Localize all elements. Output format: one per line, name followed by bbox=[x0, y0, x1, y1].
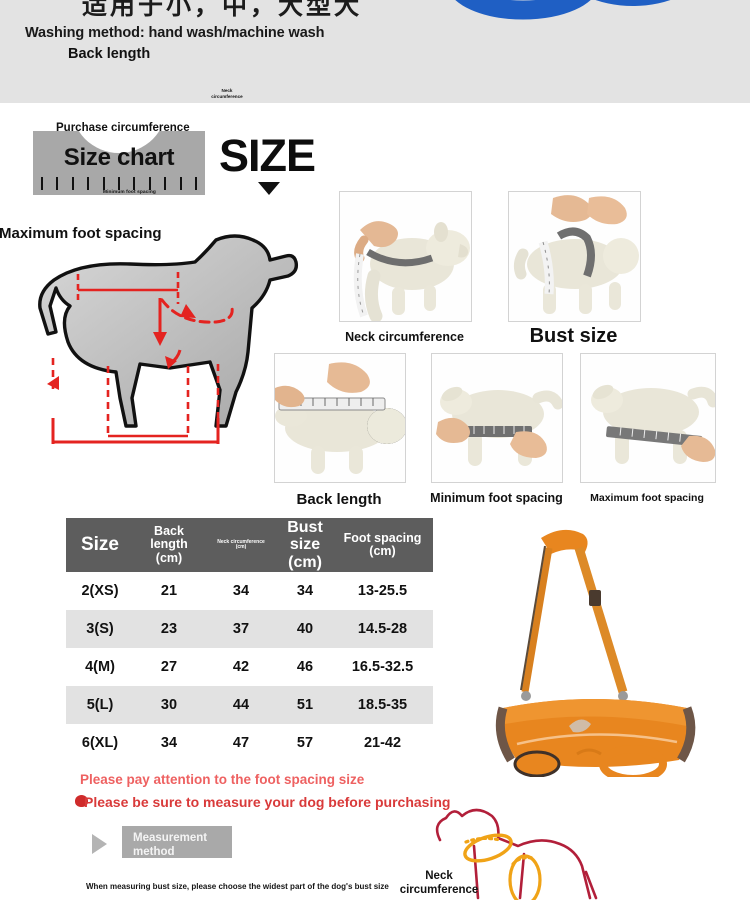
diagram-label-maximum-foot-spacing: Maximum foot spacing bbox=[0, 225, 162, 242]
cell-foot-spacing: 18.5-35 bbox=[332, 686, 433, 724]
cell-size: 2(XS) bbox=[66, 572, 134, 610]
photo-minimum-foot-spacing bbox=[431, 353, 563, 483]
cell-back-length: 21 bbox=[134, 572, 204, 610]
cell-neck-circumference: 37 bbox=[204, 610, 278, 648]
column-header-size: Size bbox=[66, 518, 134, 572]
photo-caption-neck-circumference: Neck circumference bbox=[339, 330, 470, 344]
measurement-method-button[interactable]: Measurement method bbox=[122, 826, 232, 858]
table-header: Size Back length (cm) Neck circumference… bbox=[66, 518, 433, 572]
cell-bust-size: 40 bbox=[278, 610, 332, 648]
cell-size: 3(S) bbox=[66, 610, 134, 648]
table-row: 3(S) 23 37 40 14.5-28 bbox=[66, 610, 433, 648]
photo-caption-back-length: Back length bbox=[274, 491, 404, 508]
cell-neck-circumference: 34 bbox=[204, 572, 278, 610]
cell-size: 5(L) bbox=[66, 686, 134, 724]
cell-foot-spacing: 14.5-28 bbox=[332, 610, 433, 648]
table-row: 4(M) 27 42 46 16.5-32.5 bbox=[66, 648, 433, 686]
column-header-neck-circumference-unit: (cm) bbox=[236, 544, 247, 550]
photo-caption-bust-size: Bust size bbox=[493, 325, 654, 348]
cell-back-length: 23 bbox=[134, 610, 204, 648]
cell-neck-circumference: 47 bbox=[204, 724, 278, 762]
column-header-back-length-label: Back length bbox=[150, 524, 188, 552]
dog-measurement-diagram bbox=[20, 222, 305, 474]
washing-method-text: Washing method: hand wash/machine wash bbox=[25, 25, 324, 41]
column-header-back-length: Back length (cm) bbox=[134, 518, 204, 572]
cell-foot-spacing: 21-42 bbox=[332, 724, 433, 762]
cell-bust-size: 46 bbox=[278, 648, 332, 686]
blue-pet-carrier-photo bbox=[418, 0, 728, 52]
cell-bust-size: 51 bbox=[278, 686, 332, 724]
cell-neck-circumference: 44 bbox=[204, 686, 278, 724]
cell-size: 4(M) bbox=[66, 648, 134, 686]
column-header-bust-size-unit: (cm) bbox=[288, 554, 322, 571]
photo-caption-minimum-foot-spacing: Minimum foot spacing bbox=[421, 491, 572, 505]
warning-measure-dog: Please be sure to measure your dog befor… bbox=[84, 794, 450, 810]
diagram-label-neck-circumference: Neck circumference bbox=[209, 88, 245, 99]
cell-foot-spacing: 16.5-32.5 bbox=[332, 648, 433, 686]
size-chart-label: Size chart bbox=[33, 144, 205, 172]
down-caret-icon bbox=[258, 182, 280, 195]
column-header-neck-circumference: Neck circumference (cm) bbox=[204, 518, 278, 572]
cell-bust-size: 34 bbox=[278, 572, 332, 610]
cell-neck-circumference: 42 bbox=[204, 648, 278, 686]
outline-label-neck-circumference: Neck circumference bbox=[399, 870, 479, 898]
photo-maximum-foot-spacing bbox=[580, 353, 716, 483]
column-header-bust-size-label: Bust size bbox=[287, 519, 323, 553]
diagram-label-minimum-foot-spacing: Minimum foot spacing bbox=[103, 190, 156, 195]
photo-bust-size bbox=[508, 191, 641, 322]
size-chart-table: Size Back length (cm) Neck circumference… bbox=[66, 518, 433, 762]
table-body: 2(XS) 21 34 34 13-25.5 3(S) 23 37 40 14.… bbox=[66, 572, 433, 762]
diagram-label-purchase-circumference: Purchase circumference bbox=[56, 122, 190, 134]
cell-bust-size: 57 bbox=[278, 724, 332, 762]
table-row: 6(XL) 34 47 57 21-42 bbox=[66, 724, 433, 762]
banner-chinese-text: 适用于小，中，大型犬 bbox=[82, 0, 362, 22]
photo-back-length bbox=[274, 353, 406, 483]
orange-pet-sling-carrier bbox=[473, 522, 728, 777]
column-header-foot-spacing: Foot spacing (cm) bbox=[332, 518, 433, 572]
cell-foot-spacing: 13-25.5 bbox=[332, 572, 433, 610]
table-row: 5(L) 30 44 51 18.5-35 bbox=[66, 686, 433, 724]
ruler-ticks-icon bbox=[41, 177, 197, 190]
play-triangle-icon[interactable] bbox=[92, 834, 107, 854]
column-header-bust-size: Bust size (cm) bbox=[278, 518, 332, 572]
column-header-foot-spacing-label: Foot spacing bbox=[344, 531, 422, 545]
size-chart-badge: Size chart bbox=[33, 131, 205, 195]
measurement-method-label: Measurement method bbox=[133, 831, 225, 860]
cell-back-length: 30 bbox=[134, 686, 204, 724]
column-header-back-length-unit: (cm) bbox=[156, 551, 182, 565]
size-heading: SIZE bbox=[219, 133, 315, 178]
cell-size: 6(XL) bbox=[66, 724, 134, 762]
diagram-label-back-length: Back length bbox=[68, 46, 150, 62]
column-header-foot-spacing-unit: (cm) bbox=[369, 544, 395, 558]
table-row: 2(XS) 21 34 34 13-25.5 bbox=[66, 572, 433, 610]
cell-back-length: 27 bbox=[134, 648, 204, 686]
photo-caption-maximum-foot-spacing: Maximum foot spacing bbox=[580, 492, 714, 504]
table-header-row: Size Back length (cm) Neck circumference… bbox=[66, 518, 433, 572]
photo-neck-circumference bbox=[339, 191, 472, 322]
warning-foot-spacing: Please pay attention to the foot spacing… bbox=[80, 772, 364, 787]
bust-size-note: When measuring bust size, please choose … bbox=[86, 882, 389, 891]
cell-back-length: 34 bbox=[134, 724, 204, 762]
